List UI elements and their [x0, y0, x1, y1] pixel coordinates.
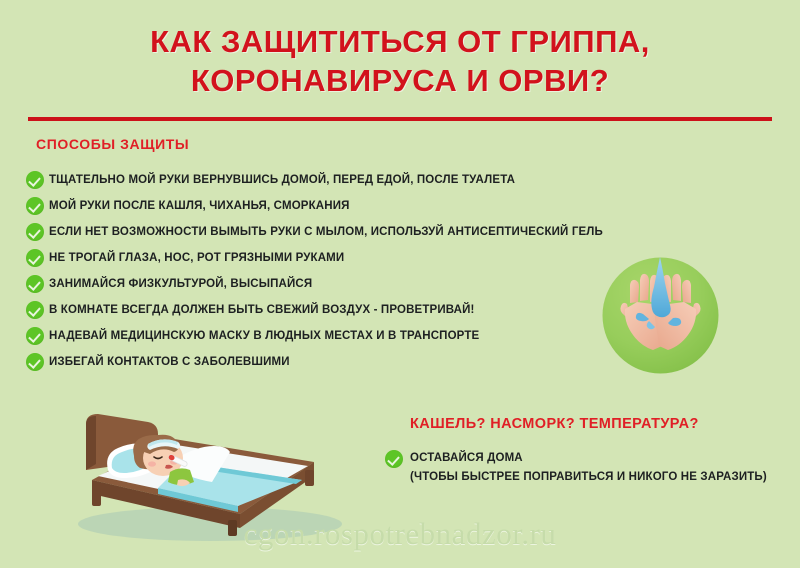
list-item: ИЗБЕГАЙ КОНТАКТОВ С ЗАБОЛЕВШИМИ [26, 349, 626, 375]
protection-section-heading: СПОСОБЫ ЗАЩИТЫ [36, 136, 189, 152]
stay-home-advice: ОСТАВАЙСЯ ДОМА (ЧТОБЫ БЫСТРЕЕ ПОПРАВИТЬС… [385, 448, 785, 486]
list-item-label: ЗАНИМАЙСЯ ФИЗКУЛЬТУРОЙ, ВЫСЫПАЙСЯ [49, 278, 312, 290]
check-circle-icon [26, 197, 44, 215]
check-circle-icon [26, 327, 44, 345]
list-item-label: ЕСЛИ НЕТ ВОЗМОЖНОСТИ ВЫМЫТЬ РУКИ С МЫЛОМ… [49, 226, 603, 238]
list-item-label: НАДЕВАЙ МЕДИЦИНСКУЮ МАСКУ В ЛЮДНЫХ МЕСТА… [49, 330, 479, 342]
check-circle-icon [26, 301, 44, 319]
list-item-label: ТЩАТЕЛЬНО МОЙ РУКИ ВЕРНУВШИСЬ ДОМОЙ, ПЕР… [49, 174, 515, 186]
list-item: ЕСЛИ НЕТ ВОЗМОЖНОСТИ ВЫМЫТЬ РУКИ С МЫЛОМ… [26, 219, 626, 245]
check-circle-icon [26, 171, 44, 189]
list-item-label: НЕ ТРОГАЙ ГЛАЗА, НОС, РОТ ГРЯЗНЫМИ РУКАМ… [49, 252, 344, 264]
stay-home-line-1: ОСТАВАЙСЯ ДОМА [410, 452, 523, 464]
list-item: МОЙ РУКИ ПОСЛЕ КАШЛЯ, ЧИХАНЬЯ, СМОРКАНИЯ [26, 193, 626, 219]
infographic-poster: КАК ЗАЩИТИТЬСЯ ОТ ГРИППА, КОРОНАВИРУСА И… [0, 0, 800, 568]
list-item: ЗАНИМАЙСЯ ФИЗКУЛЬТУРОЙ, ВЫСЫПАЙСЯ [26, 271, 626, 297]
check-circle-icon [26, 223, 44, 241]
list-item: НЕ ТРОГАЙ ГЛАЗА, НОС, РОТ ГРЯЗНЫМИ РУКАМ… [26, 245, 626, 271]
poster-header: КАК ЗАЩИТИТЬСЯ ОТ ГРИППА, КОРОНАВИРУСА И… [0, 22, 800, 100]
list-item: В КОМНАТЕ ВСЕГДА ДОЛЖЕН БЫТЬ СВЕЖИЙ ВОЗД… [26, 297, 626, 323]
page-title-line-1: КАК ЗАЩИТИТЬСЯ ОТ ГРИППА, [0, 22, 800, 61]
stay-home-line-2: (ЧТОБЫ БЫСТРЕЕ ПОПРАВИТЬСЯ И НИКОГО НЕ З… [410, 471, 767, 483]
check-circle-icon [26, 275, 44, 293]
list-item-label: В КОМНАТЕ ВСЕГДА ДОЛЖЕН БЫТЬ СВЕЖИЙ ВОЗД… [49, 304, 475, 316]
stay-home-text: ОСТАВАЙСЯ ДОМА (ЧТОБЫ БЫСТРЕЕ ПОПРАВИТЬС… [410, 448, 785, 486]
check-circle-icon [26, 249, 44, 267]
list-item-label: МОЙ РУКИ ПОСЛЕ КАШЛЯ, ЧИХАНЬЯ, СМОРКАНИЯ [49, 200, 350, 212]
symptoms-block: КАШЕЛЬ? НАСМОРК? ТЕМПЕРАТУРА? ОСТАВАЙСЯ … [385, 416, 785, 486]
list-item-label: ИЗБЕГАЙ КОНТАКТОВ С ЗАБОЛЕВШИМИ [49, 356, 290, 368]
list-item: НАДЕВАЙ МЕДИЦИНСКУЮ МАСКУ В ЛЮДНЫХ МЕСТА… [26, 323, 626, 349]
page-title-line-2: КОРОНАВИРУСА И ОРВИ? [0, 61, 800, 100]
symptoms-heading: КАШЕЛЬ? НАСМОРК? ТЕМПЕРАТУРА? [410, 416, 785, 432]
site-watermark: cgon.rospotrebnadzor.ru [0, 516, 800, 552]
protection-checklist: ТЩАТЕЛЬНО МОЙ РУКИ ВЕРНУВШИСЬ ДОМОЙ, ПЕР… [26, 167, 626, 375]
check-circle-icon [26, 353, 44, 371]
washing-hands-icon [601, 256, 720, 375]
header-divider [28, 117, 772, 121]
list-item: ТЩАТЕЛЬНО МОЙ РУКИ ВЕРНУВШИСЬ ДОМОЙ, ПЕР… [26, 167, 626, 193]
check-circle-icon [385, 450, 403, 468]
